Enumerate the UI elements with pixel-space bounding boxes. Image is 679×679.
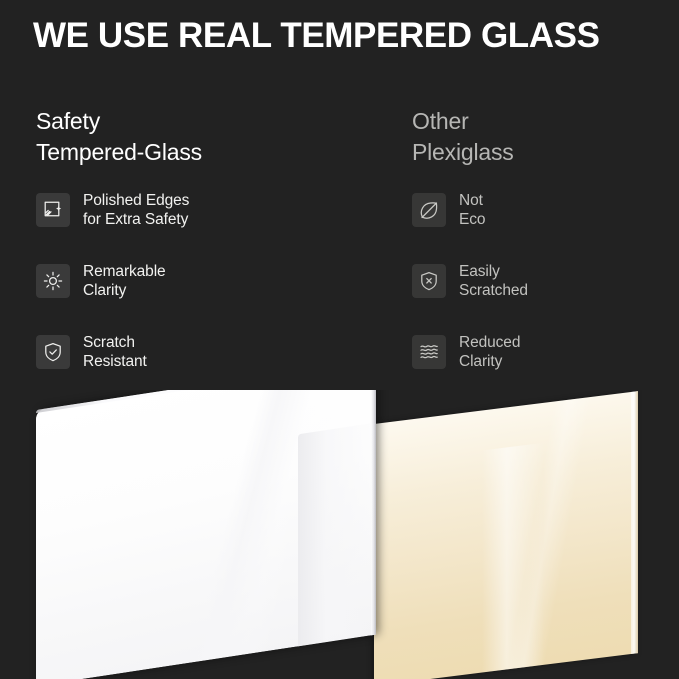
column-title-line1: Safety bbox=[36, 106, 376, 137]
column-title-tempered-glass: Safety Tempered-Glass bbox=[36, 106, 376, 169]
tempered-glass-panel bbox=[36, 390, 376, 679]
product-photo bbox=[0, 390, 679, 679]
column-title-plexiglass: Other Plexiglass bbox=[412, 106, 672, 169]
feature-line1: Reduced bbox=[459, 333, 520, 353]
feature-polished-edges: Polished Edges for Extra Safety bbox=[36, 191, 376, 230]
feature-line1: Scratch bbox=[83, 333, 147, 353]
column-title-line2: Plexiglass bbox=[412, 137, 672, 168]
feature-line1: Polished Edges bbox=[83, 191, 189, 211]
column-title-line1: Other bbox=[412, 106, 672, 137]
feature-label-scratch-resistant: Scratch Resistant bbox=[83, 333, 147, 372]
shield-x-icon bbox=[412, 264, 446, 298]
comparison-poster: WE USE REAL TEMPERED GLASS Safety Temper… bbox=[0, 0, 679, 679]
column-tempered-glass: Safety Tempered-Glass Polished Edges for… bbox=[36, 106, 376, 372]
feature-not-eco: Not Eco bbox=[412, 191, 672, 230]
feature-easily-scratched: Easily Scratched bbox=[412, 262, 672, 301]
column-title-line2: Tempered-Glass bbox=[36, 137, 376, 168]
feature-line2: Scratched bbox=[459, 281, 528, 301]
plexiglass-panel bbox=[374, 391, 638, 679]
feature-remarkable-clarity: Remarkable Clarity bbox=[36, 262, 376, 301]
feature-label-easily-scratched: Easily Scratched bbox=[459, 262, 528, 301]
feature-line2: Clarity bbox=[459, 352, 520, 372]
feature-line1: Easily bbox=[459, 262, 528, 282]
column-plexiglass: Other Plexiglass Not Eco bbox=[412, 106, 672, 372]
feature-line2: Eco bbox=[459, 210, 485, 230]
feature-label-polished-edges: Polished Edges for Extra Safety bbox=[83, 191, 189, 230]
brightness-sun-icon bbox=[36, 264, 70, 298]
feature-line1: Remarkable bbox=[83, 262, 166, 282]
feature-line2: Clarity bbox=[83, 281, 166, 301]
wavy-lines-icon bbox=[412, 335, 446, 369]
feature-line2: for Extra Safety bbox=[83, 210, 189, 230]
polished-edges-icon bbox=[36, 193, 70, 227]
feature-line2: Resistant bbox=[83, 352, 147, 372]
feature-label-remarkable-clarity: Remarkable Clarity bbox=[83, 262, 166, 301]
feature-line1: Not bbox=[459, 191, 485, 211]
feature-label-reduced-clarity: Reduced Clarity bbox=[459, 333, 520, 372]
feature-reduced-clarity: Reduced Clarity bbox=[412, 333, 672, 372]
feature-scratch-resistant: Scratch Resistant bbox=[36, 333, 376, 372]
page-title: WE USE REAL TEMPERED GLASS bbox=[33, 18, 653, 55]
shield-check-icon bbox=[36, 335, 70, 369]
feature-label-not-eco: Not Eco bbox=[459, 191, 485, 230]
leaf-crossed-out-icon bbox=[412, 193, 446, 227]
